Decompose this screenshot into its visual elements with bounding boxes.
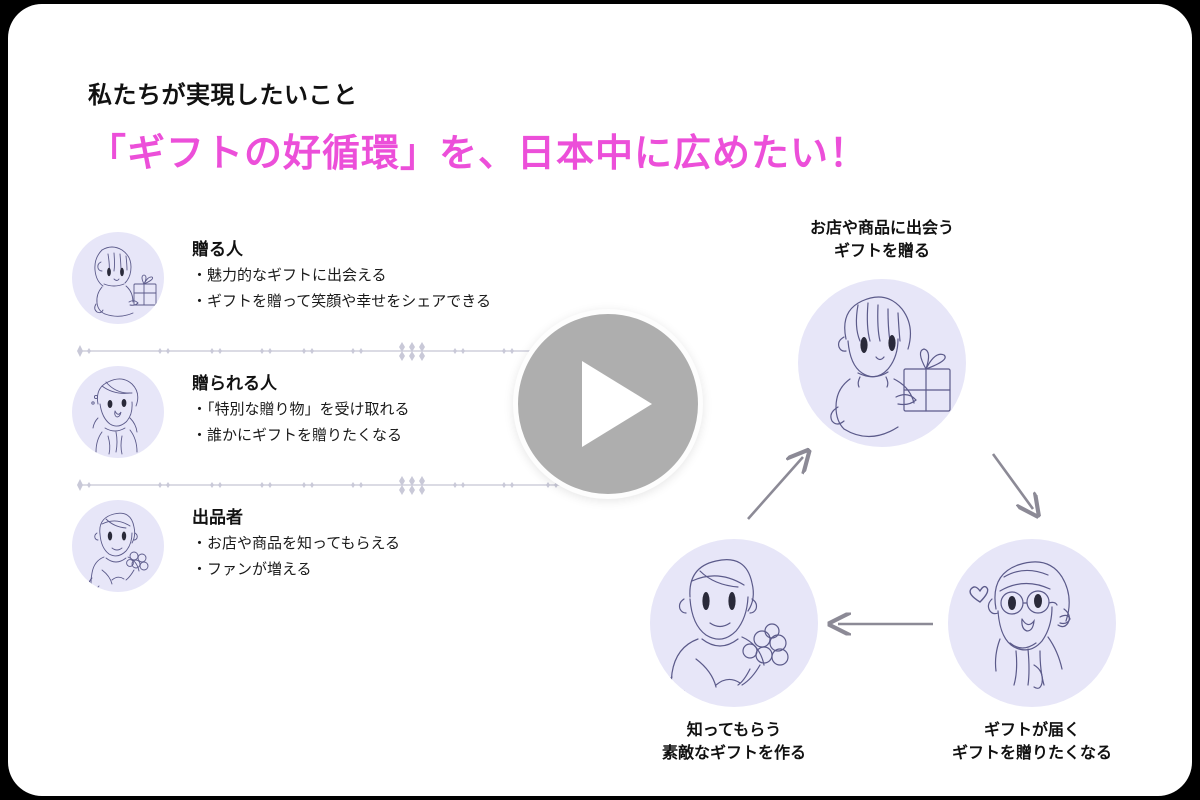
page-title: 「ギフトの好循環」を、日本中に広めたい！ — [88, 131, 868, 179]
persona-text: 出品者 ・お店や商品を知ってもらえる ・ファンが増える — [192, 507, 400, 582]
cycle-node-right-label: ギフトが届く ギフトを贈りたくなる — [882, 719, 1182, 765]
gift-cycle-diagram: お店や商品に出会う ギフトを贈る — [608, 199, 1188, 779]
persona-text: 贈る人 ・魅力的なギフトに出会える ・ギフトを贈って笑顔や幸せをシェアできる — [192, 239, 491, 314]
cycle-node-right: ギフトが届く ギフトを贈りたくなる — [948, 539, 1116, 707]
persona-text: 贈られる人 ・「特別な贈り物」を受け取れる ・誰かにギフトを贈りたくなる — [192, 373, 410, 448]
list-item: 贈る人 ・魅力的なギフトに出会える ・ギフトを贈って笑顔や幸せをシェアできる — [72, 230, 632, 338]
person-with-bouquet-illustration — [72, 500, 164, 592]
girl-holding-gift-illustration — [798, 279, 966, 447]
persona-bullet: ・「特別な贈り物」を受け取れる — [192, 398, 410, 421]
cycle-node-left: 知ってもらう 素敵なギフトを作る — [650, 539, 818, 707]
cycle-label-line: ギフトが届く — [882, 719, 1182, 742]
cycle-label-line: 素敵なギフトを作る — [584, 742, 884, 765]
cycle-label-line: 知ってもらう — [584, 719, 884, 742]
cycle-node-left-label: 知ってもらう 素敵なギフトを作る — [584, 719, 884, 765]
persona-title: 出品者 — [192, 507, 400, 529]
shopkeeper-with-bouquet-illustration — [650, 539, 818, 707]
cycle-label-line: お店や商品に出会う — [732, 217, 1032, 240]
persona-bullet: ・ファンが増える — [192, 558, 400, 581]
eyebrow-title: 私たちが実現したいこと — [88, 82, 868, 111]
persona-bullet: ・お店や商品を知ってもらえる — [192, 532, 400, 555]
slide-card: 私たちが実現したいこと 「ギフトの好循環」を、日本中に広めたい！ — [8, 4, 1192, 796]
persona-title: 贈る人 — [192, 239, 491, 261]
list-item: 出品者 ・お店や商品を知ってもらえる ・ファンが増える — [72, 498, 632, 606]
person-receiving-gift-illustration — [72, 366, 164, 458]
person-with-gift-illustration — [72, 232, 164, 324]
cycle-node-top-label: お店や商品に出会う ギフトを贈る — [732, 217, 1032, 263]
cycle-label-line: ギフトを贈りたくなる — [882, 742, 1182, 765]
heading-block: 私たちが実現したいこと 「ギフトの好循環」を、日本中に広めたい！ — [88, 82, 868, 178]
persona-bullet: ・ギフトを贈って笑顔や幸せをシェアできる — [192, 290, 491, 313]
persona-bullet: ・誰かにギフトを贈りたくなる — [192, 424, 410, 447]
persona-title: 贈られる人 — [192, 373, 410, 395]
happy-girl-with-hearts-illustration — [948, 539, 1116, 707]
cycle-node-top: お店や商品に出会う ギフトを贈る — [798, 279, 966, 447]
cycle-label-line: ギフトを贈る — [732, 240, 1032, 263]
persona-bullet: ・魅力的なギフトに出会える — [192, 264, 491, 287]
